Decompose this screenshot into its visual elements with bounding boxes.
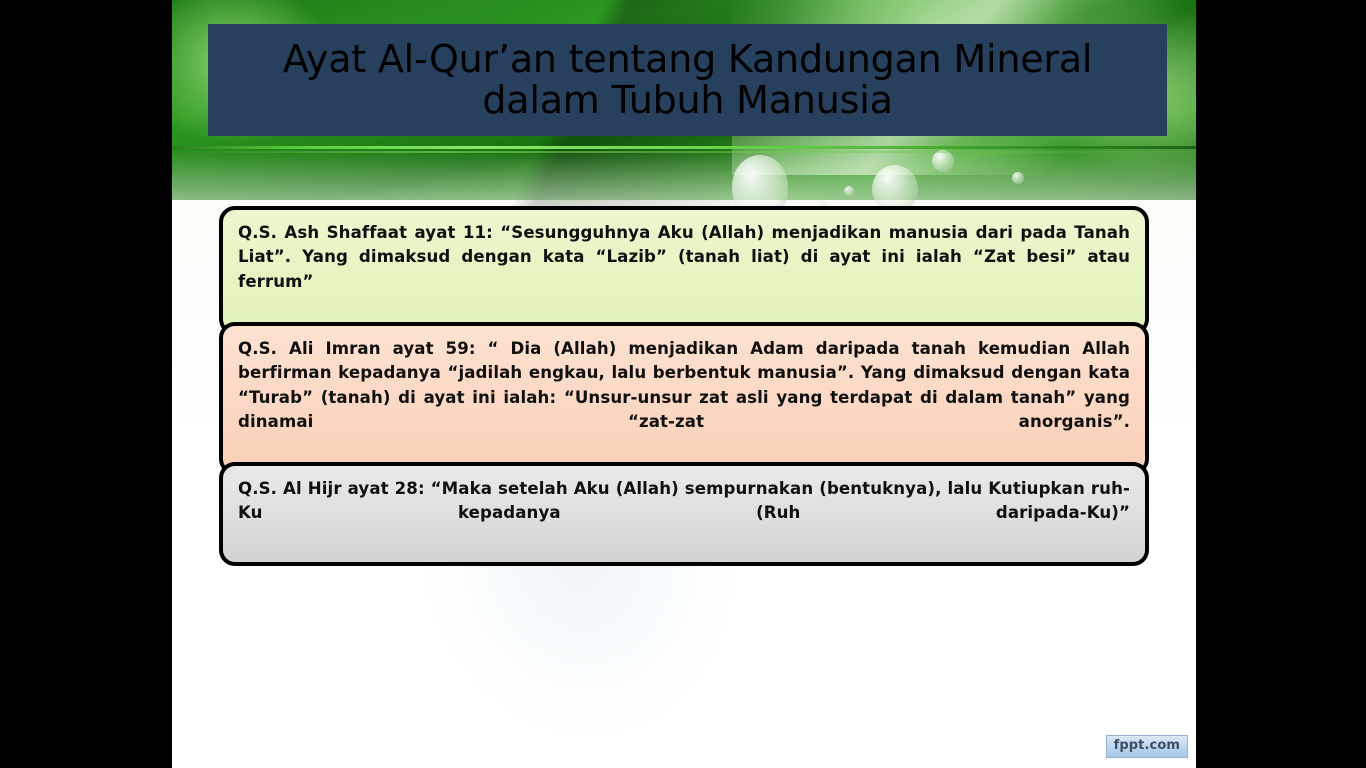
letterbox-left <box>0 0 172 768</box>
slide-canvas: Ayat Al-Qur’an tentang Kandungan Mineral… <box>172 0 1196 768</box>
header-green-divider <box>172 146 1196 149</box>
waterdrop-icon <box>844 186 854 196</box>
page-title: Ayat Al-Qur’an tentang Kandungan Mineral… <box>222 39 1153 121</box>
letterbox-right <box>1196 0 1366 768</box>
quran-verse-box-ali-imran: Q.S. Ali Imran ayat 59: “ Dia (Allah) me… <box>219 322 1149 475</box>
quran-verse-box-al-hijr: Q.S. Al Hijr ayat 28: “Maka setelah Aku … <box>219 462 1149 566</box>
header-green-divider-secondary <box>172 151 1196 153</box>
waterdrop-icon <box>1012 172 1024 184</box>
slide-viewport: Ayat Al-Qur’an tentang Kandungan Mineral… <box>0 0 1366 768</box>
quran-verse-box-ash-shaffaat: Q.S. Ash Shaffaat ayat 11: “Sesungguhnya… <box>219 206 1149 335</box>
waterdrop-icon <box>932 150 954 172</box>
fppt-watermark-badge: fppt.com <box>1106 735 1188 758</box>
slide-title-bar: Ayat Al-Qur’an tentang Kandungan Mineral… <box>208 24 1167 136</box>
